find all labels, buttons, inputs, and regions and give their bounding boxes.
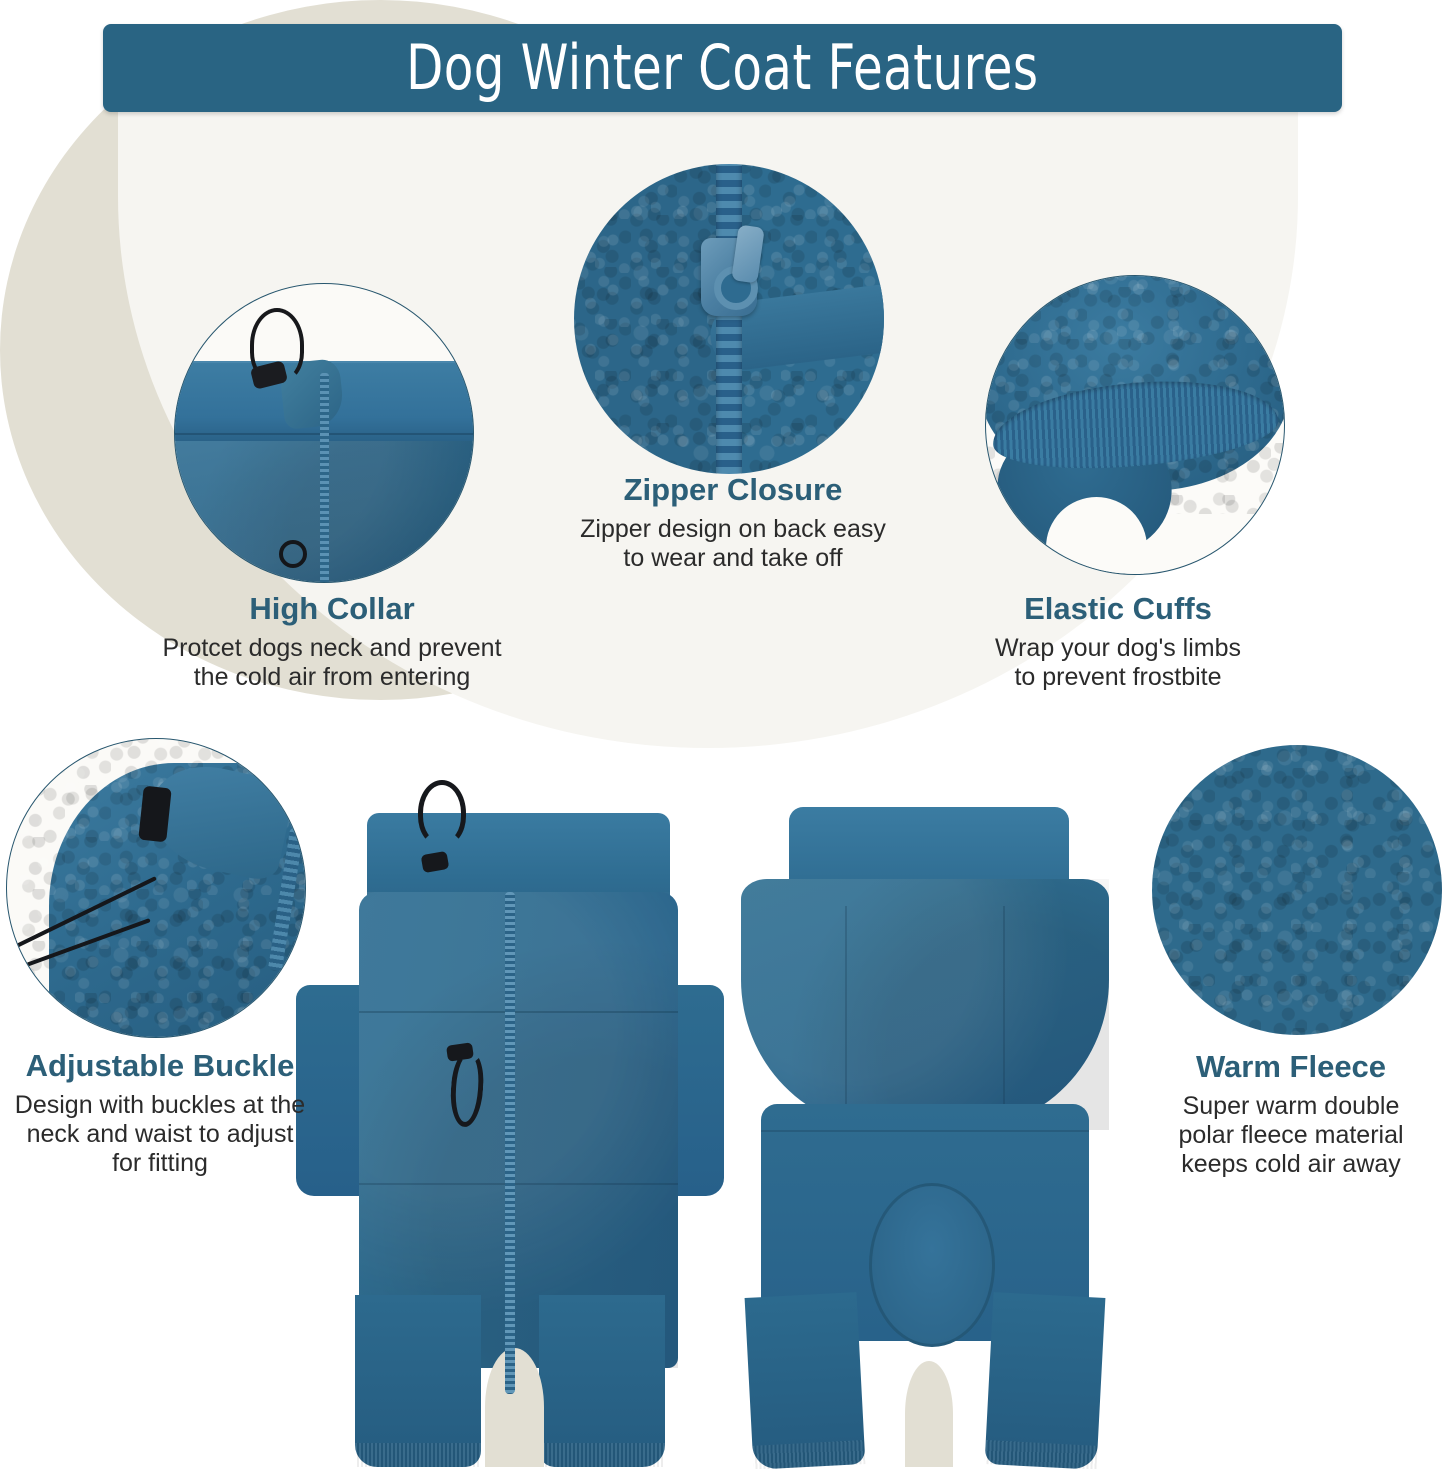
infographic-page: Dog Winter Coat Features — [0, 0, 1445, 1469]
front-leg-right — [539, 1295, 665, 1467]
feature-desc-warm-fleece-line2: polar fleece material — [1136, 1121, 1445, 1150]
tail-opening — [869, 1183, 995, 1347]
feature-desc-elastic-cuffs-line2: to prevent frostbite — [948, 663, 1288, 692]
front-waist-seam — [359, 1183, 678, 1185]
feature-title-adjustable-buckle: Adjustable Buckle — [0, 1049, 320, 1083]
back-leg-gap — [905, 1361, 953, 1467]
feature-title-zipper-closure: Zipper Closure — [530, 473, 936, 507]
feature-image-zipper-closure — [574, 164, 884, 474]
leg-cuff — [355, 1443, 481, 1467]
feature-desc-high-collar-line1: Protcet dogs neck and prevent — [120, 634, 544, 663]
zipper-teeth — [716, 164, 742, 474]
feature-desc-zipper-closure-line2: to wear and take off — [530, 544, 936, 573]
feature-image-adjustable-buckle — [6, 738, 306, 1038]
feature-image-elastic-cuffs — [985, 275, 1285, 575]
zipper-left-fabric — [574, 164, 717, 474]
feature-image-warm-fleece — [1152, 745, 1442, 1035]
fleece-texture — [1152, 745, 1442, 1035]
feature-title-elastic-cuffs: Elastic Cuffs — [948, 592, 1288, 626]
feature-desc-adjustable-buckle-line2: neck and waist to adjust — [0, 1120, 320, 1149]
back-panel-seam-right — [1003, 906, 1005, 1104]
back-shoulder-panel — [741, 879, 1109, 1130]
feature-desc-zipper-closure-line1: Zipper design on back easy — [530, 515, 936, 544]
front-chest-seam — [359, 1011, 678, 1013]
feature-caption-adjustable-buckle: Adjustable Buckle Design with buckles at… — [0, 1049, 320, 1178]
back-leg-right — [985, 1292, 1106, 1469]
front-center-zipper — [505, 892, 515, 1394]
leg-cuff — [539, 1443, 665, 1467]
feature-title-warm-fleece: Warm Fleece — [1136, 1050, 1445, 1084]
feature-caption-high-collar: High Collar Protcet dogs neck and preven… — [120, 592, 544, 692]
back-waist-seam — [761, 1130, 1089, 1132]
feature-desc-high-collar-line2: the cold air from entering — [120, 663, 544, 692]
product-photo-back-view — [725, 800, 1125, 1460]
feature-caption-warm-fleece: Warm Fleece Super warm double polar flee… — [1136, 1050, 1445, 1179]
cord-lock-buckle — [138, 785, 171, 842]
title-banner: Dog Winter Coat Features — [103, 24, 1342, 112]
back-leg-left — [745, 1292, 866, 1469]
feature-desc-adjustable-buckle-line1: Design with buckles at the — [0, 1091, 320, 1120]
product-photo-front-view — [300, 800, 720, 1460]
feature-title-high-collar: High Collar — [120, 592, 544, 626]
feature-caption-zipper-closure: Zipper Closure Zipper design on back eas… — [530, 473, 936, 573]
leg-cuff — [985, 1440, 1098, 1469]
feature-desc-warm-fleece-line3: keeps cold air away — [1136, 1150, 1445, 1179]
feature-desc-warm-fleece-line1: Super warm double — [1136, 1092, 1445, 1121]
front-neck-drawstring — [418, 780, 466, 846]
feature-caption-elastic-cuffs: Elastic Cuffs Wrap your dog's limbs to p… — [948, 592, 1288, 692]
feature-desc-adjustable-buckle-line3: for fitting — [0, 1149, 320, 1178]
feature-image-high-collar — [174, 283, 474, 583]
back-panel-seam-left — [845, 906, 847, 1104]
feature-desc-elastic-cuffs-line1: Wrap your dog's limbs — [948, 634, 1288, 663]
leg-cuff — [752, 1440, 865, 1469]
page-title: Dog Winter Coat Features — [406, 37, 1038, 99]
front-leg-left — [355, 1295, 481, 1467]
fleece-texture — [574, 164, 733, 474]
fabric-shading — [741, 879, 1109, 1130]
collar-zipper — [320, 373, 329, 583]
